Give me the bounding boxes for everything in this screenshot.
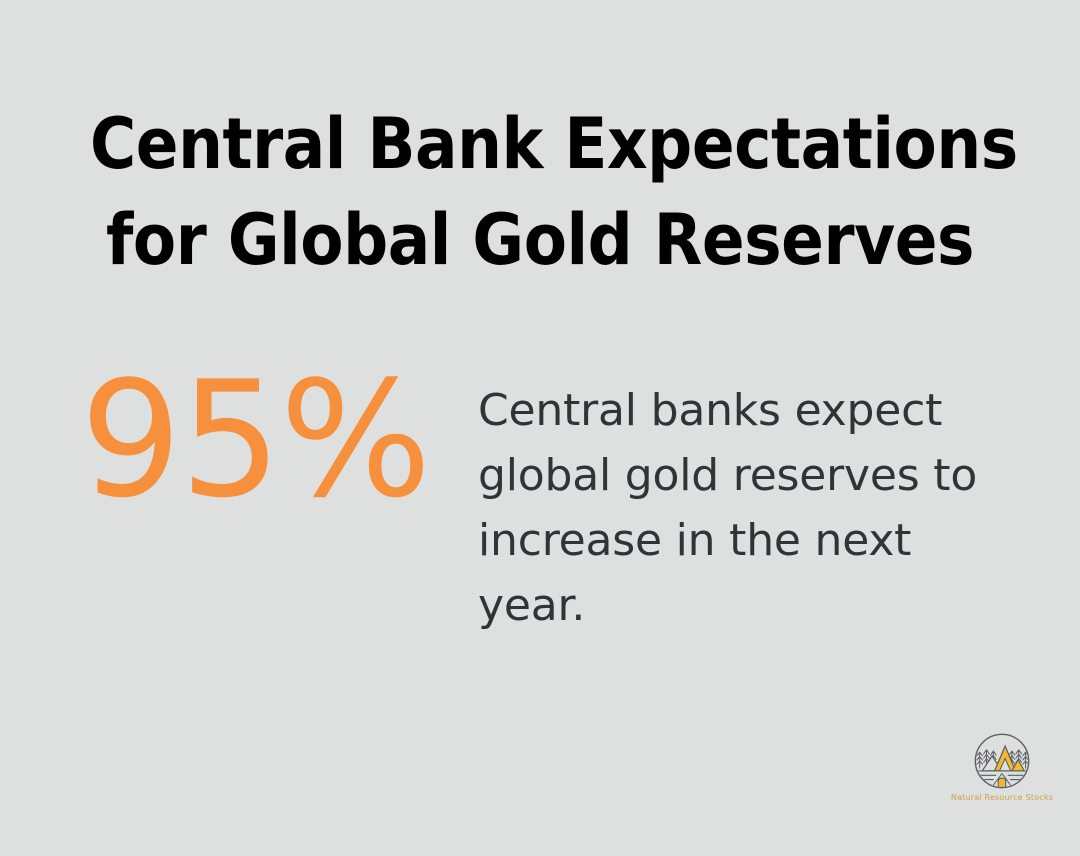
infographic-canvas: Central Bank Expectations for Global Gol… <box>0 0 1080 856</box>
title-line-2: for Global Gold Reserves <box>90 192 990 288</box>
stat-description-line-2: global gold reserves to <box>478 443 988 508</box>
mountain-forest-circle-icon <box>971 730 1033 792</box>
stat-description-line-4: year. <box>478 573 988 638</box>
stat-percentage: 95% <box>80 360 470 520</box>
brand-name: Natural Resource Stocks <box>940 793 1064 802</box>
stat-description-line-1: Central banks expect <box>478 378 988 443</box>
statistic-row: 95% Central banks expect global gold res… <box>0 360 1080 640</box>
brand-logo: Natural Resource Stocks <box>940 730 1064 816</box>
title-line-1: Central Bank Expectations <box>90 96 990 192</box>
stat-description-line-3: increase in the next <box>478 508 988 573</box>
page-title: Central Bank Expectations for Global Gol… <box>0 96 1080 288</box>
stat-description: Central banks expect global gold reserve… <box>478 378 988 638</box>
